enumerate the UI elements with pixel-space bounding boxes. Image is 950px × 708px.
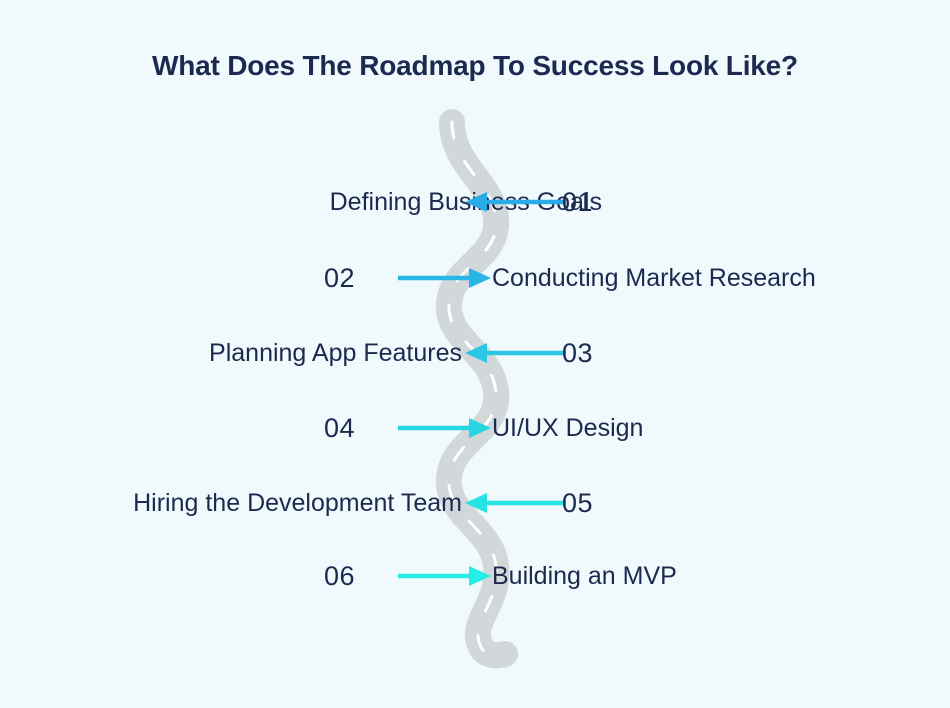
step-4-label: UI/UX Design — [492, 416, 643, 441]
step-3-number-group: 03 — [562, 340, 593, 367]
step-5-label: Hiring the Development Team — [133, 491, 462, 516]
step-2-number-group: 02 — [324, 265, 355, 292]
step-5-number: 05 — [562, 490, 593, 517]
step-4-number-group: 04 — [324, 415, 355, 442]
step-3-label-group: Planning App Features — [209, 341, 462, 366]
step-6-label: Building an MVP — [492, 564, 677, 589]
step-6-arrow-right-icon — [398, 565, 493, 587]
step-1-number-group: 01 — [562, 189, 593, 216]
step-2-label-group: Conducting Market Research — [492, 266, 816, 291]
step-2-number: 02 — [324, 265, 355, 292]
step-1-arrow-left-icon — [463, 191, 568, 213]
step-5-arrow-left-icon — [463, 492, 568, 514]
step-5-number-group: 05 — [562, 490, 593, 517]
step-6-number: 06 — [324, 563, 355, 590]
roadmap-step-2: 02 Conducting Market Research — [0, 258, 950, 298]
step-3-label: Planning App Features — [209, 341, 462, 366]
step-4-number: 04 — [324, 415, 355, 442]
step-3-arrow-left-icon — [463, 342, 568, 364]
roadmap-step-4: 04 UI/UX Design — [0, 408, 950, 448]
step-2-arrow-right-icon — [398, 267, 493, 289]
step-6-label-group: Building an MVP — [492, 564, 677, 589]
roadmap-step-3: Planning App Features 03 — [0, 333, 950, 373]
step-4-arrow-right-icon — [398, 417, 493, 439]
step-2-label: Conducting Market Research — [492, 266, 816, 291]
roadmap-step-5: Hiring the Development Team 05 — [0, 483, 950, 523]
roadmap-step-1: Defining Business Goals 01 — [0, 182, 950, 222]
step-3-number: 03 — [562, 340, 593, 367]
step-4-label-group: UI/UX Design — [492, 416, 643, 441]
step-5-label-group: Hiring the Development Team — [133, 491, 462, 516]
step-6-number-group: 06 — [324, 563, 355, 590]
step-1-number: 01 — [562, 189, 593, 216]
roadmap-step-6: 06 Building an MVP — [0, 556, 950, 596]
roadmap-infographic: What Does The Roadmap To Success Look Li… — [0, 0, 950, 708]
